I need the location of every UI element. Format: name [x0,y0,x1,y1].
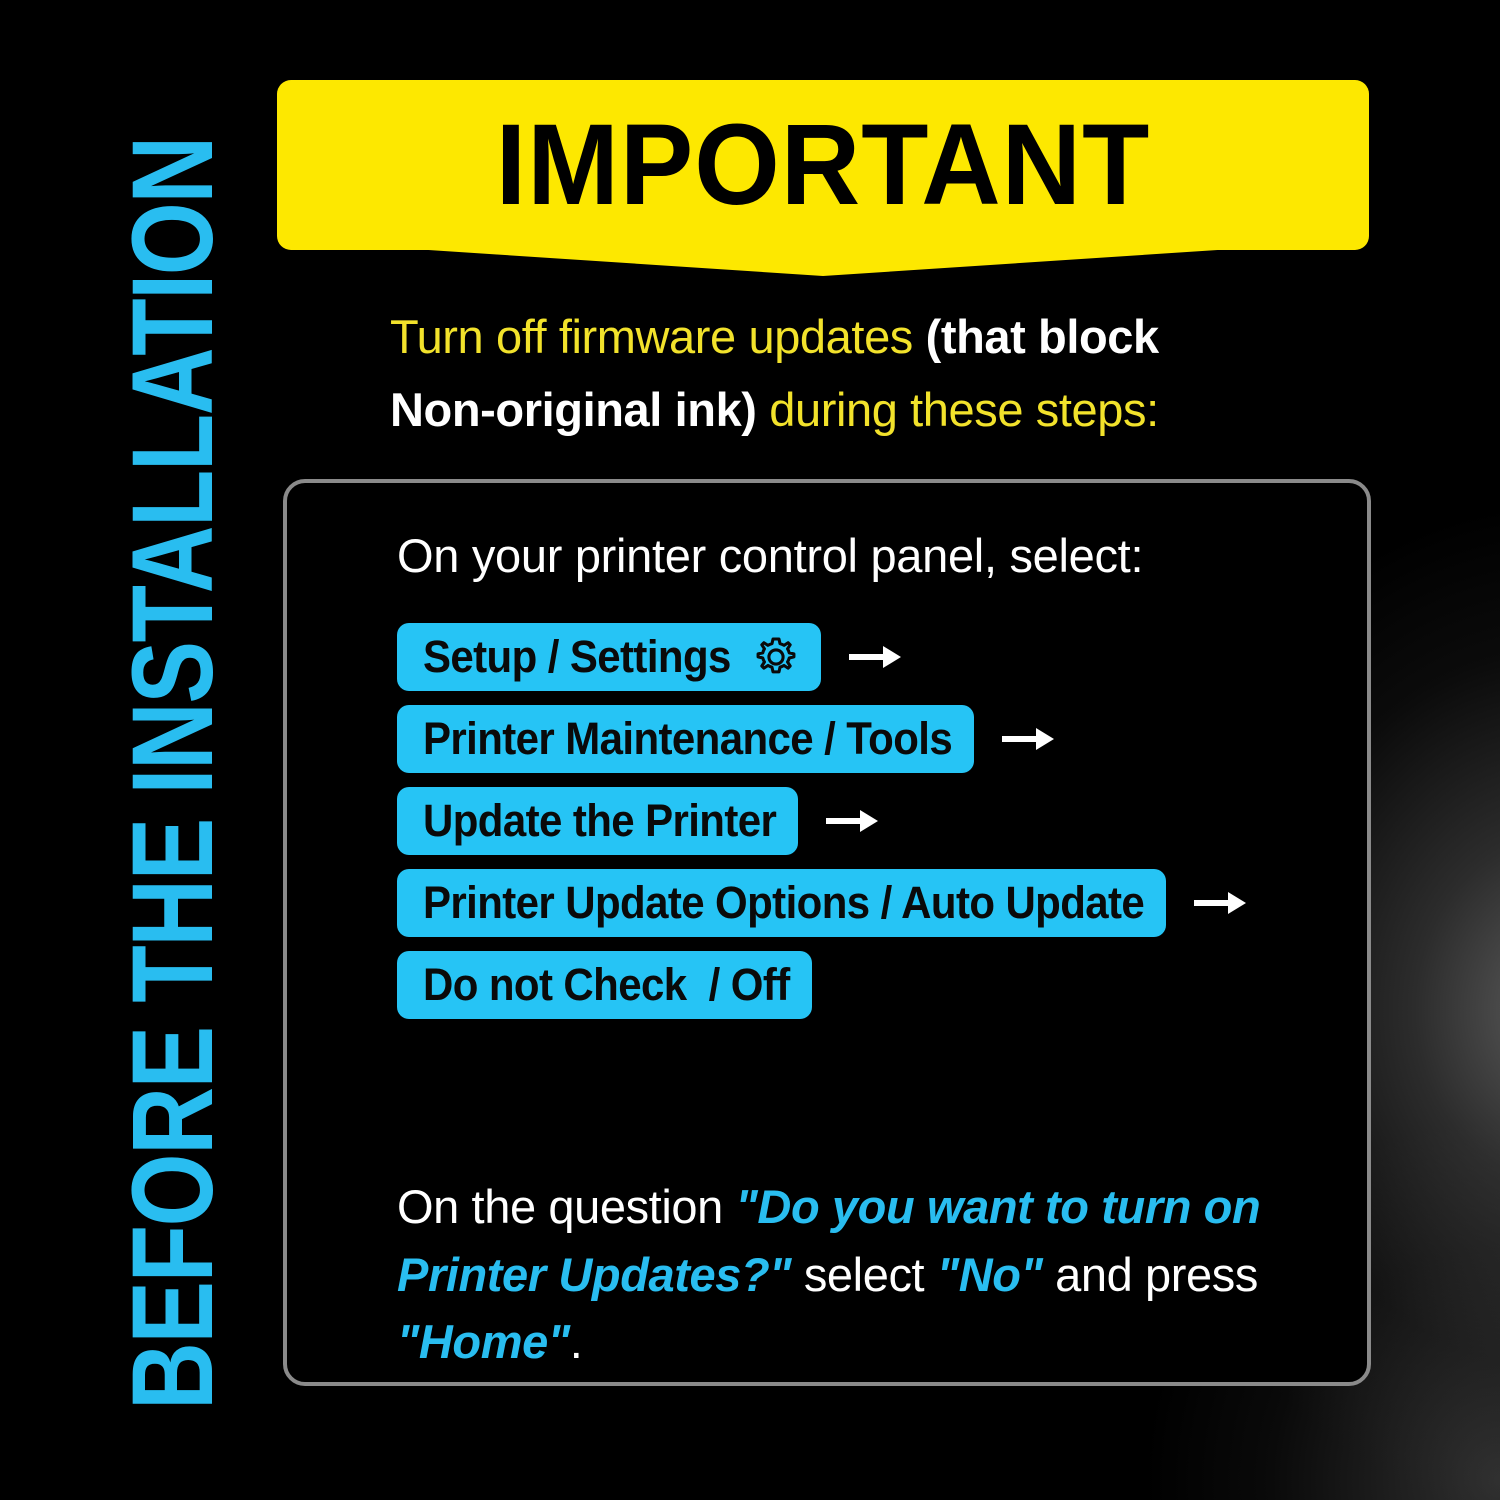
closing-part3: and press [1043,1248,1258,1301]
step-pill-printer-maintenance-tools[interactable]: Printer Maintenance / Tools [397,705,974,773]
panel-heading: On your printer control panel, select: [397,528,1143,583]
step-label: Printer Maintenance / Tools [423,716,952,761]
banner-title: IMPORTANT [277,76,1369,255]
poster-root: BEFORE THE INSTALLATION IMPORTANT Turn o… [0,0,1500,1500]
subtitle-part2: during these steps: [757,383,1159,436]
arrow-right-icon [1000,723,1056,755]
step-pill-do-not-check-off[interactable]: Do not Check / Off [397,951,812,1019]
list-item: Printer Update Options / Auto Update [397,869,1327,937]
subtitle-part1: Turn off firmware updates [390,310,926,363]
side-title: BEFORE THE INSTALLATION [118,0,228,1410]
side-title-label: BEFORE THE INSTALLATION [116,137,231,1410]
instructions-panel: On your printer control panel, select: S… [283,479,1371,1386]
list-item: Setup / Settings [397,623,1327,691]
step-list: Setup / Settings [397,623,1327,1033]
arrow-right-icon [824,805,880,837]
step-label: Do not Check / Off [423,962,790,1007]
closing-quote-no: "No" [937,1248,1043,1301]
arrow-right-icon [1192,887,1248,919]
arrow-right-icon [847,641,903,673]
step-label: Update the Printer [423,798,776,843]
important-banner: IMPORTANT [277,80,1369,275]
list-item: Do not Check / Off [397,951,1327,1019]
closing-part1: On the question [397,1180,736,1233]
closing-part2: select [791,1248,937,1301]
closing-part4: . [570,1315,583,1368]
step-pill-setup-settings[interactable]: Setup / Settings [397,623,821,691]
step-label: Printer Update Options / Auto Update [423,880,1144,925]
subtitle-paragraph: Turn off firmware updates (that block No… [390,300,1220,447]
step-pill-printer-update-options-auto-update[interactable]: Printer Update Options / Auto Update [397,869,1166,937]
step-label: Setup / Settings [423,634,731,679]
closing-paragraph: On the question "Do you want to turn on … [397,1173,1287,1376]
list-item: Printer Maintenance / Tools [397,705,1327,773]
step-pill-update-the-printer[interactable]: Update the Printer [397,787,798,855]
closing-quote-home: "Home" [397,1315,570,1368]
list-item: Update the Printer [397,787,1327,855]
gear-icon [753,634,799,680]
